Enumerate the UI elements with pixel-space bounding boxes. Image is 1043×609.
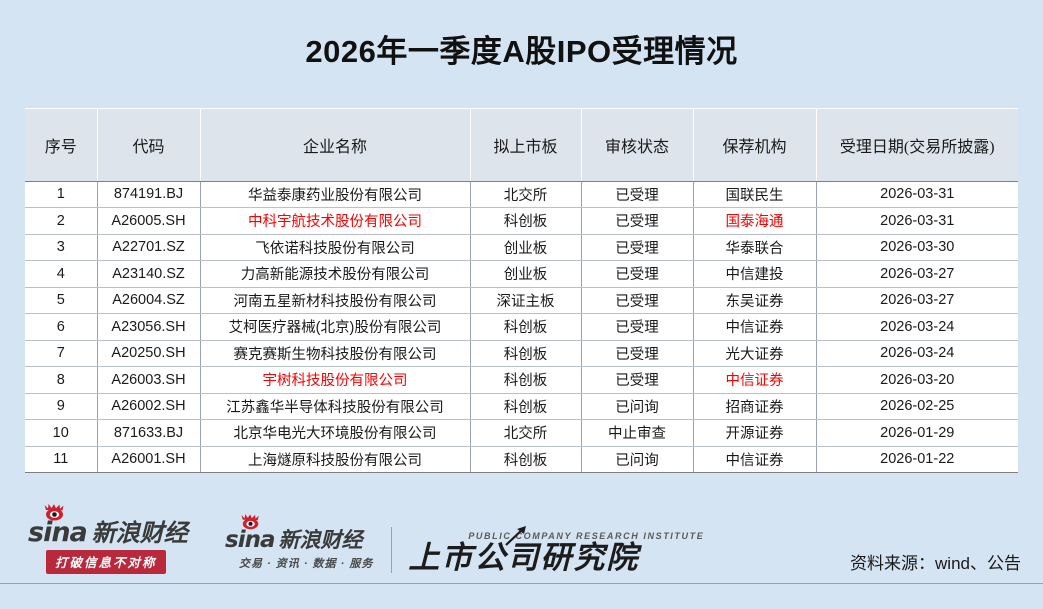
sina-subtag: 交易 · 资讯 · 数据 · 服务	[239, 555, 373, 571]
sina-finance-logo-secondary: sina 新浪财经 交易 · 资讯 · 数据 · 服务	[225, 529, 373, 571]
cell-name: 河南五星新材科技股份有限公司	[200, 287, 470, 314]
cell-name: 中科宇航技术股份有限公司	[200, 208, 470, 235]
cell-board: 科创板	[470, 367, 581, 394]
ipo-table-card: 序号 代码 企业名称 拟上市板 审核状态 保荐机构 受理日期(交易所披露) 18…	[25, 108, 1018, 473]
sina-wordmark-secondary: sina	[225, 529, 274, 552]
cell-name: 北京华电光大环境股份有限公司	[200, 420, 470, 447]
cell-sponsor: 光大证券	[693, 340, 816, 367]
cell-code: A26003.SH	[97, 367, 200, 394]
table-row: 7A20250.SH赛克赛斯生物科技股份有限公司科创板已受理光大证券2026-0…	[25, 340, 1018, 367]
table-row: 1874191.BJ华益泰康药业股份有限公司北交所已受理国联民生2026-03-…	[25, 181, 1018, 208]
cell-index: 4	[25, 261, 97, 288]
cell-status: 已受理	[581, 208, 693, 235]
cell-code: A26005.SH	[97, 208, 200, 235]
column-header-date: 受理日期(交易所披露)	[816, 109, 1018, 181]
cell-index: 1	[25, 181, 97, 208]
cell-board: 科创板	[470, 208, 581, 235]
cell-status: 已问询	[581, 393, 693, 420]
cell-code: A23140.SZ	[97, 261, 200, 288]
cell-name: 力高新能源技术股份有限公司	[200, 261, 470, 288]
cell-status: 已受理	[581, 181, 693, 208]
sina-eye-icon-secondary	[241, 514, 263, 531]
cell-date: 2026-03-20	[816, 367, 1018, 394]
cell-name: 华益泰康药业股份有限公司	[200, 181, 470, 208]
sina-wordmark: sina	[28, 519, 87, 546]
sina-logo-row-secondary: sina 新浪财经	[225, 529, 373, 552]
cell-index: 10	[25, 420, 97, 447]
footer: sina 新浪财经 打破信息不对称 sina 新浪财经 交易 · 资讯 · 数据…	[0, 505, 1043, 609]
cell-date: 2026-03-24	[816, 340, 1018, 367]
table-row: 9A26002.SH江苏鑫华半导体科技股份有限公司科创板已问询招商证券2026-…	[25, 393, 1018, 420]
table-row: 8A26003.SH宇树科技股份有限公司科创板已受理中信证券2026-03-20	[25, 367, 1018, 394]
cell-board: 北交所	[470, 181, 581, 208]
cell-index: 9	[25, 393, 97, 420]
column-header-name: 企业名称	[200, 109, 470, 181]
cell-sponsor: 国联民生	[693, 181, 816, 208]
table-row: 4A23140.SZ力高新能源技术股份有限公司创业板已受理中信建投2026-03…	[25, 261, 1018, 288]
sina-logo-row: sina 新浪财经	[28, 519, 213, 546]
cell-sponsor: 中信证券	[693, 446, 816, 473]
table-row: 11A26001.SH上海燧原科技股份有限公司科创板已问询中信证券2026-01…	[25, 446, 1018, 473]
sina-finance-logo-primary: sina 新浪财经 打破信息不对称	[28, 519, 213, 577]
cell-name: 艾柯医疗器械(北京)股份有限公司	[200, 314, 470, 341]
column-header-status: 审核状态	[581, 109, 693, 181]
cell-name: 赛克赛斯生物科技股份有限公司	[200, 340, 470, 367]
column-header-board: 拟上市板	[470, 109, 581, 181]
cell-sponsor: 东吴证券	[693, 287, 816, 314]
cell-board: 北交所	[470, 420, 581, 447]
cell-index: 11	[25, 446, 97, 473]
cell-code: 871633.BJ	[97, 420, 200, 447]
sina-tagline: 打破信息不对称	[46, 550, 166, 574]
research-institute-logo: PUBLIC COMPANY RESEARCH INSTITUTE 上市公司研究…	[408, 527, 704, 573]
cell-index: 2	[25, 208, 97, 235]
column-header-sponsor: 保荐机构	[693, 109, 816, 181]
cell-sponsor: 中信证券	[693, 314, 816, 341]
cell-board: 创业板	[470, 234, 581, 261]
cell-code: A26001.SH	[97, 446, 200, 473]
cell-date: 2026-03-27	[816, 261, 1018, 288]
cell-index: 5	[25, 287, 97, 314]
table-row: 2A26005.SH中科宇航技术股份有限公司科创板已受理国泰海通2026-03-…	[25, 208, 1018, 235]
cell-date: 2026-02-25	[816, 393, 1018, 420]
sina-name-cn: 新浪财经	[92, 522, 188, 546]
cell-date: 2026-03-24	[816, 314, 1018, 341]
cell-status: 已问询	[581, 446, 693, 473]
cell-date: 2026-03-31	[816, 208, 1018, 235]
cell-sponsor: 中信建投	[693, 261, 816, 288]
sina-research-logo-group: sina 新浪财经 交易 · 资讯 · 数据 · 服务 PUBLIC COMPA…	[225, 521, 704, 579]
cell-index: 8	[25, 367, 97, 394]
footer-divider	[0, 583, 1043, 584]
cell-sponsor: 招商证券	[693, 393, 816, 420]
cell-status: 已受理	[581, 367, 693, 394]
cell-status: 已受理	[581, 340, 693, 367]
cell-date: 2026-03-30	[816, 234, 1018, 261]
cell-code: A23056.SH	[97, 314, 200, 341]
cell-index: 6	[25, 314, 97, 341]
table-row: 3A22701.SZ飞依诺科技股份有限公司创业板已受理华泰联合2026-03-3…	[25, 234, 1018, 261]
cell-board: 科创板	[470, 446, 581, 473]
table-row: 10871633.BJ北京华电光大环境股份有限公司北交所中止审查开源证券2026…	[25, 420, 1018, 447]
column-header-index: 序号	[25, 109, 97, 181]
cell-status: 已受理	[581, 314, 693, 341]
sina-eye-icon	[44, 504, 66, 521]
cell-board: 科创板	[470, 393, 581, 420]
cell-name: 上海燧原科技股份有限公司	[200, 446, 470, 473]
cell-sponsor: 华泰联合	[693, 234, 816, 261]
cell-index: 3	[25, 234, 97, 261]
cell-code: A26004.SZ	[97, 287, 200, 314]
ipo-acceptance-table: 序号 代码 企业名称 拟上市板 审核状态 保荐机构 受理日期(交易所披露) 18…	[25, 109, 1018, 473]
arrow-up-icon	[504, 525, 530, 547]
cell-date: 2026-01-29	[816, 420, 1018, 447]
source-note: 资料来源：wind、公告	[850, 549, 1021, 574]
cell-name: 宇树科技股份有限公司	[200, 367, 470, 394]
table-header-row: 序号 代码 企业名称 拟上市板 审核状态 保荐机构 受理日期(交易所披露)	[25, 109, 1018, 181]
title-bar: 2026年一季度A股IPO受理情况	[0, 0, 1043, 96]
cell-code: A22701.SZ	[97, 234, 200, 261]
cell-date: 2026-01-22	[816, 446, 1018, 473]
cell-status: 已受理	[581, 261, 693, 288]
cell-status: 中止审查	[581, 420, 693, 447]
table-body: 1874191.BJ华益泰康药业股份有限公司北交所已受理国联民生2026-03-…	[25, 181, 1018, 473]
cell-date: 2026-03-27	[816, 287, 1018, 314]
logo-divider	[391, 527, 392, 573]
cell-board: 创业板	[470, 261, 581, 288]
cell-sponsor: 国泰海通	[693, 208, 816, 235]
cell-status: 已受理	[581, 287, 693, 314]
cell-status: 已受理	[581, 234, 693, 261]
cell-board: 科创板	[470, 340, 581, 367]
cell-name: 飞依诺科技股份有限公司	[200, 234, 470, 261]
cell-code: A26002.SH	[97, 393, 200, 420]
cell-sponsor: 中信证券	[693, 367, 816, 394]
cell-code: 874191.BJ	[97, 181, 200, 208]
cell-board: 深证主板	[470, 287, 581, 314]
cell-name: 江苏鑫华半导体科技股份有限公司	[200, 393, 470, 420]
page-title: 2026年一季度A股IPO受理情况	[305, 26, 737, 71]
table-row: 5A26004.SZ河南五星新材科技股份有限公司深证主板已受理东吴证券2026-…	[25, 287, 1018, 314]
column-header-code: 代码	[97, 109, 200, 181]
table-row: 6A23056.SH艾柯医疗器械(北京)股份有限公司科创板已受理中信证券2026…	[25, 314, 1018, 341]
cell-index: 7	[25, 340, 97, 367]
cell-date: 2026-03-31	[816, 181, 1018, 208]
sina-name-cn-secondary: 新浪财经	[278, 530, 362, 551]
table-header: 序号 代码 企业名称 拟上市板 审核状态 保荐机构 受理日期(交易所披露)	[25, 109, 1018, 181]
cell-board: 科创板	[470, 314, 581, 341]
institute-name-cn: 上市公司研究院	[408, 542, 704, 573]
cell-sponsor: 开源证券	[693, 420, 816, 447]
cell-code: A20250.SH	[97, 340, 200, 367]
